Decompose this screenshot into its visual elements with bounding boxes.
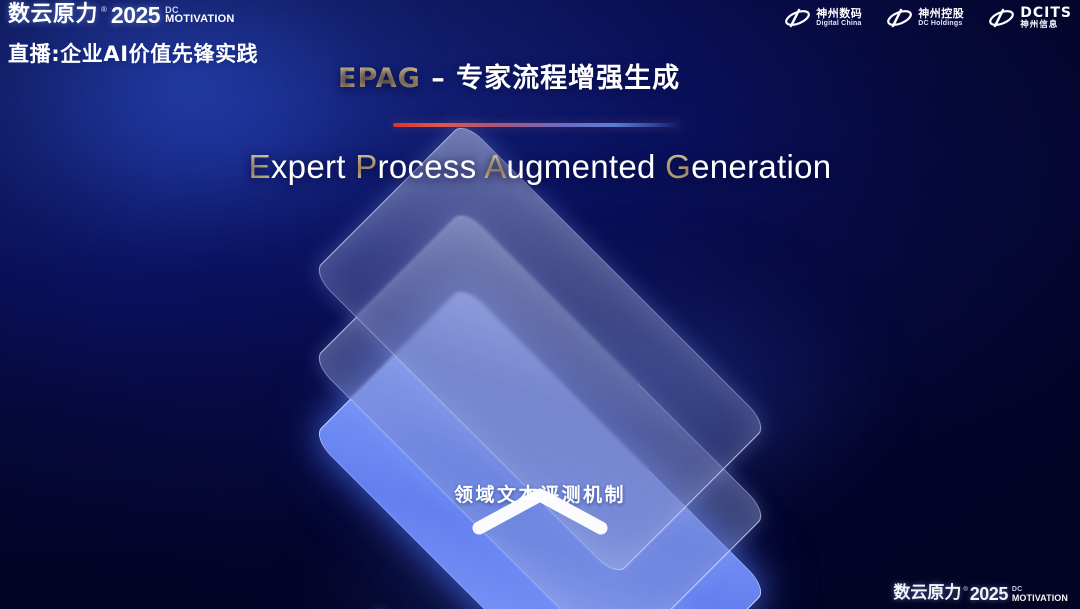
layered-stack-diagram: 领域文本评测机制 Dynamic MOE 长文本记忆 三类语义建模模块 [0, 212, 1080, 592]
chevron-up-icon [471, 486, 609, 536]
partner-name-cn: 神州控股 [918, 8, 964, 20]
watermark-name-cn: 数云原力 [893, 585, 961, 602]
brand-year: 2025 [111, 4, 160, 27]
footer-watermark-logo: 数云原力 ® 2025 DC MOTIVATION [893, 585, 1068, 603]
watermark-year: 2025 [970, 585, 1008, 603]
watermark-registered-mark: ® [963, 587, 967, 593]
acronym-letter-e: E [249, 148, 271, 185]
brand-name-cn: 数云原力 [8, 4, 98, 26]
title-separator: – [421, 63, 456, 94]
partner-logo-dc-holdings: 神州控股 DC Holdings [886, 7, 964, 29]
title-chinese: 专家流程增强生成 [456, 63, 680, 94]
partner-name-en: Digital China [816, 20, 862, 27]
brand-dc-line2: MOTIVATION [165, 14, 234, 24]
acronym-letter-p: P [355, 148, 377, 185]
header-left-block: 数云原力 ® 2025 DC MOTIVATION 直播:企业AI价值先锋实践 [8, 4, 258, 68]
acronym-word-generation: eneration [691, 148, 831, 185]
broadcast-subtitle: 直播:企业AI价值先锋实践 [8, 38, 258, 68]
registered-mark: ® [101, 6, 107, 14]
partner-logo-bar: 神州数码 Digital China 神州控股 DC Holdings DCIT… [784, 6, 1072, 30]
title-acronym: EPAG [338, 63, 421, 94]
brand-dc-motivation: DC MOTIVATION [165, 6, 234, 25]
partner-name-en: DC Holdings [918, 20, 964, 27]
page-title: EPAG – 专家流程增强生成 [338, 56, 680, 95]
watermark-dc-motivation: DC MOTIVATION [1012, 587, 1068, 602]
partner-logo-dcits: DCITS 神州信息 [988, 6, 1072, 30]
swirl-logo-icon [886, 7, 913, 29]
acronym-word-augmented: ugmented [507, 148, 666, 185]
swirl-logo-icon [988, 7, 1015, 29]
event-logo: 数云原力 ® 2025 DC MOTIVATION [8, 4, 258, 27]
watermark-dc-line2: MOTIVATION [1012, 594, 1068, 602]
partner-logo-text: 神州数码 Digital China [816, 8, 862, 27]
title-divider [393, 123, 683, 127]
partner-name-en: 神州信息 [1020, 21, 1072, 30]
title-english-expansion: Expert Process Augmented Generation [0, 148, 1080, 186]
partner-logo-text: 神州控股 DC Holdings [918, 8, 964, 27]
swirl-logo-icon [784, 7, 811, 29]
partner-logo-digital-china: 神州数码 Digital China [784, 7, 862, 29]
partner-name-cn: DCITS [1020, 6, 1072, 21]
acronym-letter-a: A [484, 148, 506, 185]
acronym-word-process: rocess [378, 148, 485, 185]
acronym-letter-g: G [665, 148, 691, 185]
acronym-word-expert: xpert [271, 148, 355, 185]
partner-name-cn: 神州数码 [816, 8, 862, 20]
partner-logo-text: DCITS 神州信息 [1020, 6, 1072, 30]
